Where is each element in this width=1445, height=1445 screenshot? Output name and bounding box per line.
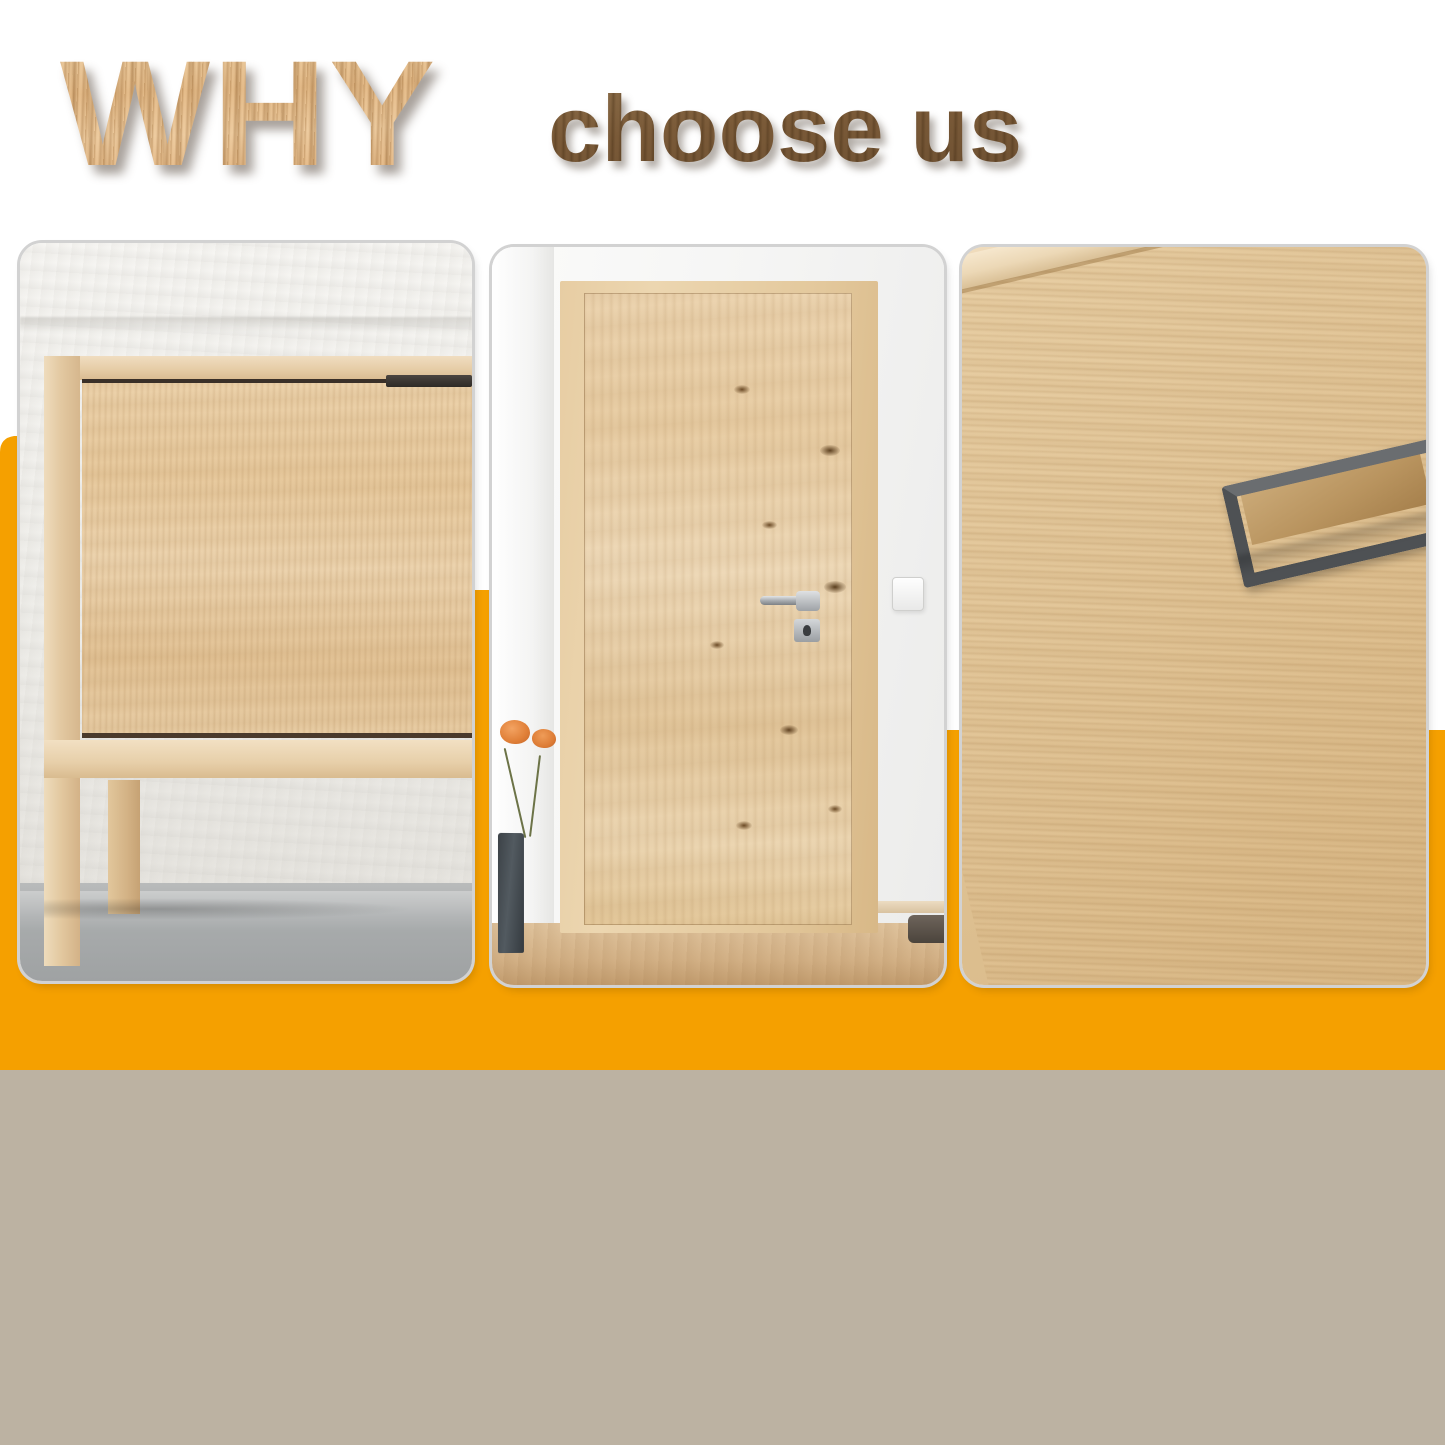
gallery-card-door[interactable] bbox=[492, 247, 944, 985]
poppy-flower-icon bbox=[500, 720, 530, 744]
wood-knot-icon bbox=[780, 725, 798, 735]
baseboard bbox=[878, 901, 944, 913]
wood-knot-icon bbox=[736, 821, 752, 830]
door-handle-rosette bbox=[796, 591, 820, 611]
drawer-front-face bbox=[962, 247, 1426, 985]
cabinet-bottom-rail bbox=[44, 740, 472, 778]
wood-knot-icon bbox=[734, 385, 750, 394]
wood-knot-icon bbox=[824, 581, 846, 593]
wood-knot-icon bbox=[828, 805, 842, 813]
page-title-secondary: choose us bbox=[548, 82, 1022, 176]
door-photo bbox=[492, 247, 944, 985]
features-panel bbox=[0, 1070, 1445, 1445]
header: WHY choose us bbox=[0, 0, 1445, 230]
keyhole-icon bbox=[803, 625, 811, 636]
wood-knot-icon bbox=[710, 641, 724, 649]
light-switch bbox=[892, 577, 924, 611]
drawer-bottom-gap bbox=[82, 733, 472, 738]
poppy-flower-icon bbox=[532, 729, 556, 748]
cabinet-floor-shadow bbox=[44, 898, 414, 920]
gallery-card-cabinet[interactable] bbox=[20, 243, 472, 981]
cabinet-photo bbox=[20, 243, 472, 981]
cabinet-leg-left bbox=[44, 778, 80, 966]
why-choose-us-infographic: WHY choose us bbox=[0, 0, 1445, 1445]
page-title-primary: WHY bbox=[60, 38, 437, 188]
floor-vase bbox=[498, 833, 524, 953]
cabinet-handle bbox=[386, 375, 472, 387]
wood-knot-icon bbox=[762, 521, 777, 529]
decor-log bbox=[908, 915, 944, 943]
wall-ledge bbox=[20, 317, 472, 333]
cabinet-leg-right bbox=[108, 780, 140, 914]
gallery-card-drawer-handle[interactable] bbox=[962, 247, 1426, 985]
cabinet-drawer-front bbox=[82, 383, 472, 735]
wood-knot-icon bbox=[820, 445, 840, 456]
drawer-handle-photo bbox=[962, 247, 1426, 985]
